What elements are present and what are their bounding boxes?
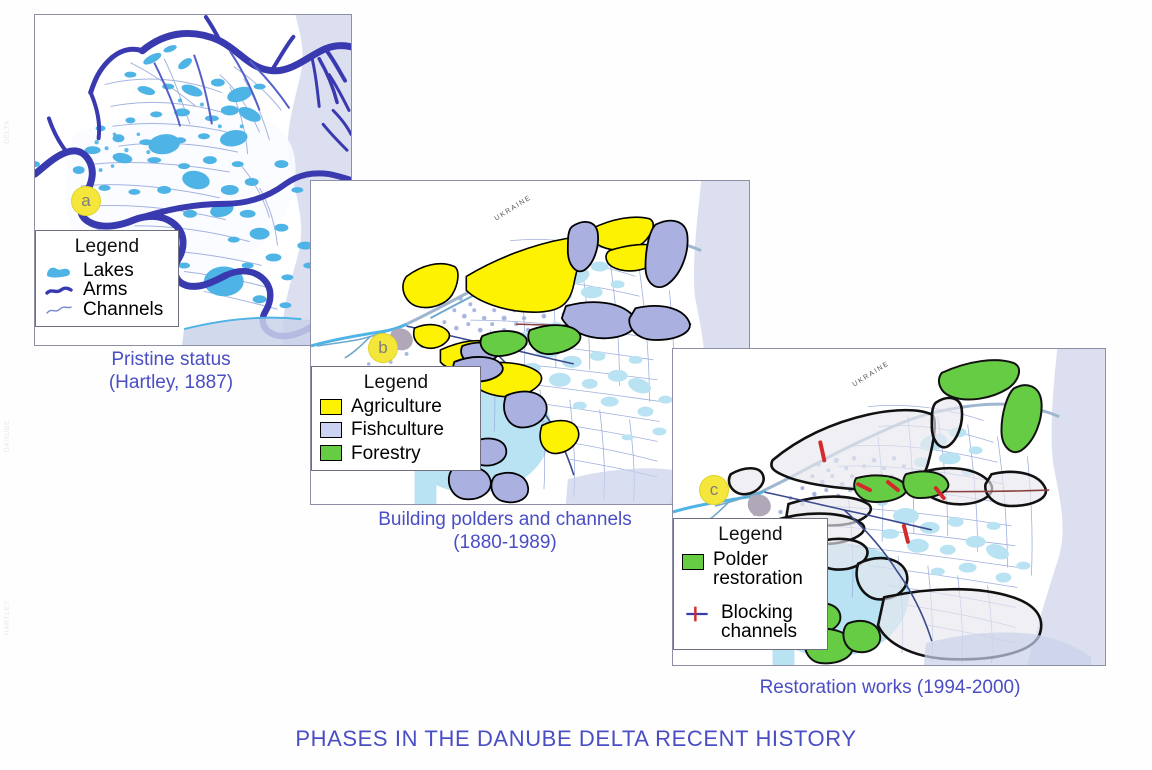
legend-label: Lakes: [83, 261, 134, 280]
legend-item-lakes[interactable]: Lakes: [44, 261, 170, 280]
caption-panel-a: Pristine status (Hartley, 1887): [46, 348, 296, 394]
legend-item-arms[interactable]: Arms: [44, 280, 170, 299]
legend-item-channels[interactable]: Channels: [44, 300, 170, 319]
legend-label: Channels: [83, 300, 163, 319]
panel-marker-c: c: [699, 475, 729, 505]
legend-label: Forestry: [351, 444, 421, 463]
legend-panel-b[interactable]: Legend Agriculture Fishculture Forestry: [311, 366, 481, 471]
blocking-channel-cross-icon: [682, 605, 712, 623]
legend-label: Fishculture: [351, 420, 444, 439]
panel-marker-b: b: [368, 333, 398, 363]
legend-item-polder-restoration[interactable]: Polder restoration: [682, 550, 819, 589]
polder-restoration-swatch-icon: [682, 554, 704, 570]
legend-title: Legend: [320, 372, 472, 394]
legend-panel-c[interactable]: Legend Polder restoration Blocking chann…: [673, 518, 828, 650]
fishculture-swatch-icon: [320, 422, 342, 438]
legend-item-agriculture[interactable]: Agriculture: [320, 397, 472, 416]
figure-title: PHASES IN THE DANUBE DELTA RECENT HISTOR…: [0, 726, 1152, 752]
legend-item-blocking-channels[interactable]: Blocking channels: [682, 603, 819, 642]
agriculture-swatch-icon: [320, 399, 342, 415]
thin-wave-icon: [44, 300, 74, 318]
forestry-swatch-icon: [320, 445, 342, 461]
figure-canvas: DELTA DANUBE HARTLEY: [0, 0, 1152, 770]
legend-label: Agriculture: [351, 397, 442, 416]
lake-blob-icon: [44, 262, 74, 280]
thick-wave-icon: [44, 281, 74, 299]
legend-item-fishculture[interactable]: Fishculture: [320, 420, 472, 439]
scan-artifact: DANUBE: [4, 420, 11, 452]
caption-panel-b: Building polders and channels (1880-1989…: [340, 508, 670, 554]
scan-artifact: DELTA: [4, 120, 11, 144]
legend-label: Blocking channels: [721, 603, 797, 642]
caption-panel-c: Restoration works (1994-2000): [700, 676, 1080, 699]
panel-marker-a: a: [71, 186, 101, 216]
legend-label: Arms: [83, 280, 127, 299]
legend-item-forestry[interactable]: Forestry: [320, 444, 472, 463]
scan-artifact: HARTLEY: [4, 600, 11, 636]
legend-panel-a[interactable]: Legend Lakes Arms Channels: [35, 230, 179, 327]
legend-title: Legend: [44, 236, 170, 258]
legend-label: Polder restoration: [713, 550, 803, 589]
legend-title: Legend: [682, 524, 819, 546]
